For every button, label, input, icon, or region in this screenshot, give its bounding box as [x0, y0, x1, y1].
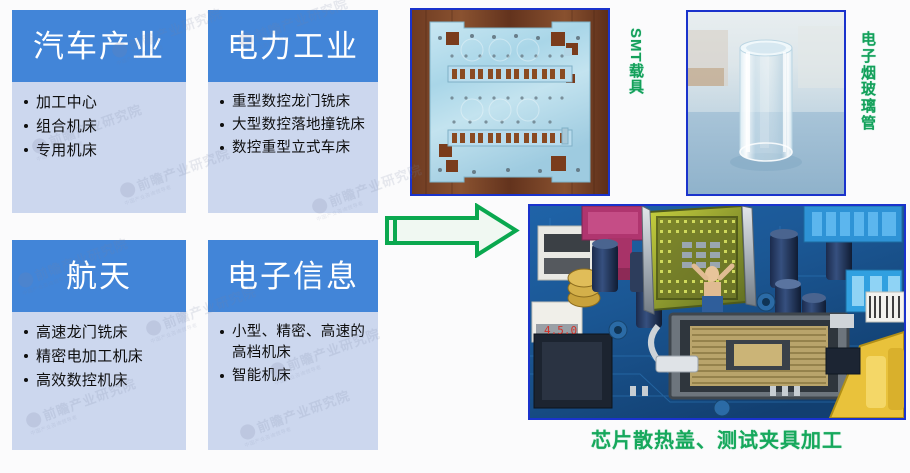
list-item: 精密电加工机床 — [22, 346, 180, 368]
card-aerospace-body: 高速龙门铣床 精密电加工机床 高效数控机床 — [12, 312, 186, 450]
photo-glass-tube-label: 电子烟玻璃管 — [858, 32, 880, 133]
card-power-industry[interactable]: 电力工业 重型数控龙门铣床 大型数控落地撞铣床 数控重型立式车床 — [208, 10, 378, 213]
photo-motherboard[interactable]: 4.5.0 — [528, 204, 906, 420]
card-electronic-information-body: 小型、精密、高速的高档机床 智能机床 — [208, 312, 378, 450]
card-power-industry-body: 重型数控龙门铣床 大型数控落地撞铣床 数控重型立式车床 — [208, 82, 378, 213]
list-item: 小型、精密、高速的高档机床 — [218, 322, 372, 364]
right-arrow-icon — [385, 203, 520, 258]
card-aerospace[interactable]: 航天 高速龙门铣床 精密电加工机床 高效数控机床 — [12, 240, 186, 450]
list-item: 智能机床 — [218, 366, 372, 387]
list-item: 重型数控龙门铣床 — [218, 92, 372, 113]
list-item: 高效数控机床 — [22, 370, 180, 392]
list-item: 大型数控落地撞铣床 — [218, 115, 372, 136]
card-automotive[interactable]: 汽车产业 加工中心 组合机床 专用机床 — [12, 10, 186, 213]
list-item: 专用机床 — [22, 140, 180, 162]
photo-smt-carrier[interactable] — [410, 8, 610, 196]
svg-text:4.5.0: 4.5.0 — [544, 324, 577, 337]
card-electronic-information[interactable]: 电子信息 小型、精密、高速的高档机床 智能机床 — [208, 240, 378, 450]
list-item: 组合机床 — [22, 116, 180, 138]
card-automotive-body: 加工中心 组合机床 专用机床 — [12, 82, 186, 213]
photo-glass-tube[interactable] — [686, 10, 846, 196]
card-power-industry-title: 电力工业 — [208, 10, 378, 82]
card-aerospace-title: 航天 — [12, 240, 186, 312]
list-item: 加工中心 — [22, 92, 180, 114]
card-aerospace-list: 高速龙门铣床 精密电加工机床 高效数控机床 — [22, 322, 180, 391]
card-automotive-title: 汽车产业 — [12, 10, 186, 82]
card-electronic-information-title: 电子信息 — [208, 240, 378, 312]
card-automotive-list: 加工中心 组合机床 专用机床 — [22, 92, 180, 161]
list-item: 数控重型立式车床 — [218, 138, 372, 159]
photo-smt-carrier-label: SMT载具 — [626, 28, 646, 138]
list-item: 高速龙门铣床 — [22, 322, 180, 344]
card-power-industry-list: 重型数控龙门铣床 大型数控落地撞铣床 数控重型立式车床 — [218, 92, 372, 159]
card-electronic-information-list: 小型、精密、高速的高档机床 智能机床 — [218, 322, 372, 387]
photo-motherboard-caption: 芯片散热盖、测试夹具加工 — [528, 424, 906, 453]
slide-canvas: 汽车产业 加工中心 组合机床 专用机床 电力工业 重型数控龙门铣床 大型数控落地… — [0, 0, 910, 473]
